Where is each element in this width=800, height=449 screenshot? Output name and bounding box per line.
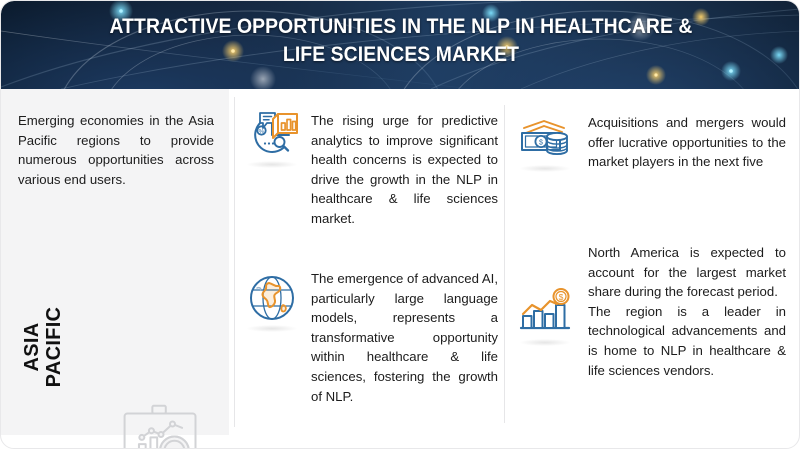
- presentation-board-analytics-icon: [113, 401, 209, 449]
- infographic-card: ATTRACTIVE OPPORTUNITIES IN THE NLP IN H…: [0, 0, 800, 449]
- icon-shadow: [520, 165, 570, 172]
- cell-advanced-ai-text: The emergence of advanced AI, particular…: [311, 269, 498, 406]
- svg-text:$: $: [559, 292, 564, 302]
- asia-pacific-description: Emerging economies in the Asia Pacific r…: [18, 111, 214, 189]
- svg-text:%: %: [259, 129, 265, 136]
- header-banner: ATTRACTIVE OPPORTUNITIES IN THE NLP IN H…: [1, 1, 800, 89]
- icon-shadow: [247, 161, 297, 168]
- svg-text:$: $: [539, 139, 543, 146]
- money-banknote-coins-icon: $: [516, 109, 574, 167]
- divider-middle: [504, 105, 505, 423]
- region-label: ASIA PACIFIC: [21, 287, 65, 407]
- page-title: ATTRACTIVE OPPORTUNITIES IN THE NLP IN H…: [86, 12, 716, 69]
- cell-north-america-text-part2: The region is a leader in technological …: [588, 302, 786, 380]
- cell-predictive-analytics-text: The rising urge for predictive analytics…: [311, 111, 498, 229]
- divider-left: [234, 97, 235, 427]
- icon-shadow: [247, 325, 297, 332]
- cell-north-america-text: North America is expected to account for…: [588, 243, 786, 380]
- cell-north-america-text-part1: North America is expected to account for…: [588, 243, 786, 302]
- icon-shadow: [520, 339, 570, 346]
- growth-bar-chart-dollar-icon: $: [516, 283, 574, 341]
- asia-pacific-panel: Emerging economies in the Asia Pacific r…: [1, 89, 229, 435]
- globe-icon: [243, 269, 301, 327]
- predictive-analytics-icon: %: [243, 105, 301, 163]
- cell-acquisitions-mergers-text: Acquisitions and mergers would offer luc…: [588, 113, 786, 172]
